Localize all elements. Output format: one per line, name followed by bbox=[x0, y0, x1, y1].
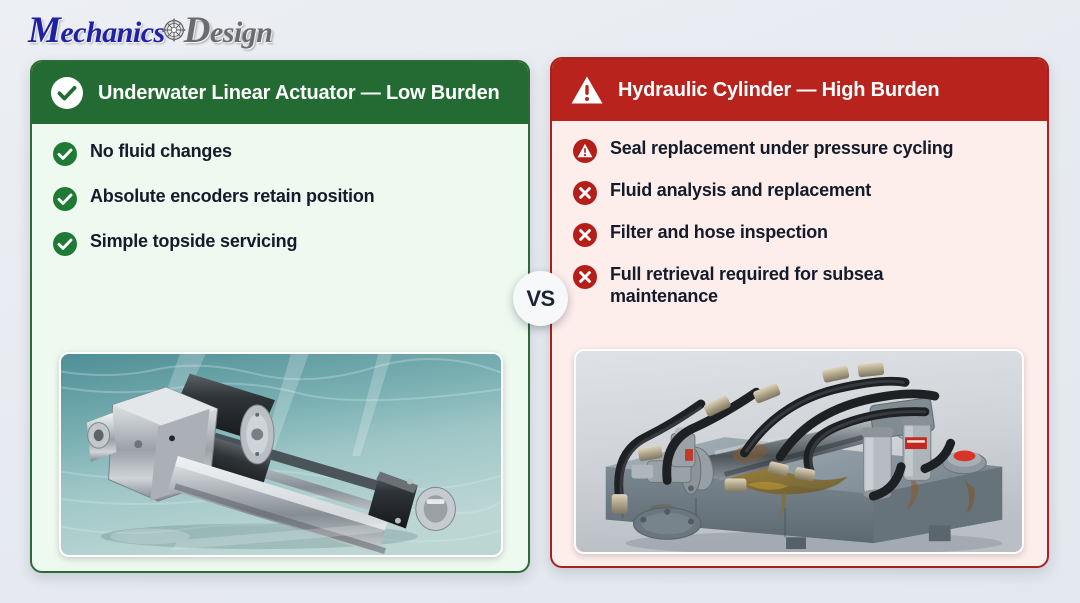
x-circle-icon bbox=[572, 222, 598, 248]
check-circle-icon bbox=[52, 186, 78, 212]
logo-design-capital: D bbox=[184, 10, 210, 51]
underwater-linear-actuator-photo bbox=[59, 352, 503, 557]
list-item-label: No fluid changes bbox=[90, 140, 232, 162]
list-item: No fluid changes bbox=[52, 140, 508, 167]
right-card-body: Seal replacement under pressure cycling … bbox=[552, 121, 1047, 308]
left-card-benefit-list: No fluid changes Absolute encoders retai… bbox=[52, 140, 508, 257]
list-item-label: Seal replacement under pressure cycling bbox=[610, 137, 953, 159]
logo-word-design: Design bbox=[184, 9, 273, 52]
list-item: Full retrieval required for subsea maint… bbox=[572, 263, 1027, 308]
warning-circle-icon bbox=[572, 138, 598, 164]
list-item: Filter and hose inspection bbox=[572, 221, 1027, 248]
list-item: Fluid analysis and replacement bbox=[572, 179, 1027, 206]
site-logo: Mechanics Design bbox=[28, 10, 272, 50]
left-card-body: No fluid changes Absolute encoders retai… bbox=[32, 124, 528, 257]
left-card-header: Underwater Linear Actuator — Low Burden bbox=[32, 62, 528, 124]
left-card-title: Underwater Linear Actuator — Low Burden bbox=[98, 82, 500, 104]
list-item-label: Fluid analysis and replacement bbox=[610, 179, 871, 201]
list-item-label: Filter and hose inspection bbox=[610, 221, 828, 243]
list-item: Absolute encoders retain position bbox=[52, 185, 508, 212]
comparison-card-high-burden: Hydraulic Cylinder — High Burden Seal re… bbox=[550, 57, 1049, 568]
logo-design-rest: esign bbox=[210, 16, 273, 49]
x-circle-icon bbox=[572, 264, 598, 290]
check-circle-icon bbox=[52, 231, 78, 257]
right-card-burden-list: Seal replacement under pressure cycling … bbox=[572, 137, 1027, 308]
logo-mechanics-capital: M bbox=[28, 10, 60, 51]
list-item: Simple topside servicing bbox=[52, 230, 508, 257]
vs-badge: VS bbox=[513, 271, 568, 326]
right-card-header: Hydraulic Cylinder — High Burden bbox=[552, 59, 1047, 121]
logo-mechanics-rest: echanics bbox=[60, 16, 164, 49]
warning-triangle-icon bbox=[570, 73, 604, 107]
logo-word-mechanics: Mechanics bbox=[28, 9, 165, 52]
comparison-card-low-burden: Underwater Linear Actuator — Low Burden … bbox=[30, 60, 530, 573]
right-card-title: Hydraulic Cylinder — High Burden bbox=[618, 79, 939, 101]
list-item-label: Absolute encoders retain position bbox=[90, 185, 374, 207]
list-item: Seal replacement under pressure cycling bbox=[572, 137, 1027, 164]
check-circle-icon bbox=[50, 76, 84, 110]
hydraulic-power-unit-photo bbox=[574, 349, 1024, 554]
list-item-label: Simple topside servicing bbox=[90, 230, 297, 252]
gear-icon bbox=[161, 17, 187, 43]
list-item-label: Full retrieval required for subsea maint… bbox=[610, 263, 940, 308]
x-circle-icon bbox=[572, 180, 598, 206]
check-circle-icon bbox=[52, 141, 78, 167]
vs-badge-label: VS bbox=[526, 286, 554, 312]
